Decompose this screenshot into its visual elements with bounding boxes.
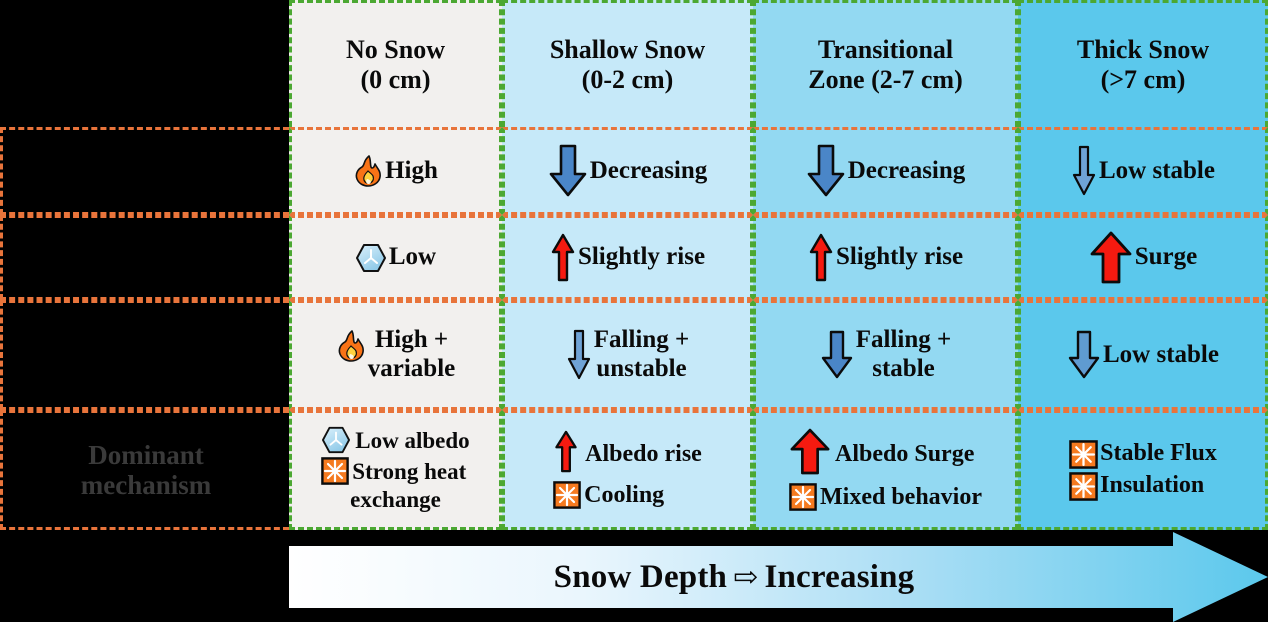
star-icon [1069,472,1098,501]
cell-r3c4: Low stable [1018,300,1268,410]
cell-text-trailing: exchange [350,487,441,512]
cell-r3c3: Falling + stable [753,300,1018,410]
regime-matrix: No Snow (0 cm) Shallow Snow (0-2 cm) Tra… [0,0,1268,530]
fire-icon [336,330,366,362]
row-label-3 [0,300,289,410]
cell-r3c1: High + variable [289,300,502,410]
star-icon [789,483,818,512]
cell-r4c1: Low albedo Strong heat exchange [289,410,502,530]
cell-text: Albedo rise [585,441,702,469]
cell-text: Slightly rise [836,243,963,272]
star-icon [553,481,582,510]
cell-text: Low [389,243,436,272]
snow-depth-gradient-arrow: Snow Depth ⇨ Increasing [289,532,1268,622]
cell-r1c2: Decreasing [502,127,753,215]
cell-r4c3: Albedo Surge Mixed behavior [753,410,1018,530]
arrow-up-icon [550,233,576,283]
cell-text: Strong heat [352,459,466,485]
cell-text: Mixed behavior [820,484,982,512]
arrow-down-icon [1067,330,1101,380]
star-icon [321,457,350,486]
ice-cube-icon [355,243,387,273]
column-header-no-snow: No Snow (0 cm) [289,0,502,127]
cell-text: Low stable [1099,157,1215,186]
arrow-up-icon [808,233,834,283]
row-label-2 [0,215,289,300]
column-header-label: Transitional Zone (2-7 cm) [808,35,963,95]
cell-text: Slightly rise [578,243,705,272]
star-icon [1069,440,1098,469]
column-header-transitional-zone: Transitional Zone (2-7 cm) [753,0,1018,127]
cell-text: Decreasing [590,157,708,186]
arrow-up-icon [1089,231,1133,285]
cell-text: Cooling [584,482,664,510]
cell-text: Low albedo [355,428,469,454]
column-header-label: No Snow (0 cm) [346,35,445,95]
cell-text: Falling + stable [856,326,952,384]
cell-text: Albedo Surge [835,441,974,469]
cell-r2c1: Low [289,215,502,300]
cell-text: Surge [1135,243,1198,272]
matrix-corner-cell [0,0,289,127]
row-label-text: Dominant mechanism [81,440,212,500]
arrow-down-icon [566,329,592,381]
ice-cube-icon [321,426,353,456]
arrow-up-icon [553,430,583,480]
column-header-thick-snow: Thick Snow (>7 cm) [1018,0,1268,127]
cell-r4c4: Stable Flux Insulation [1018,410,1268,530]
column-header-label: Thick Snow (>7 cm) [1077,35,1209,95]
cell-r1c1: High [289,127,502,215]
cell-text: Decreasing [848,157,966,186]
cell-r4c2: Albedo rise Cooling [502,410,753,530]
arrow-down-icon [820,330,854,380]
cell-r2c2: Slightly rise [502,215,753,300]
column-header-label: Shallow Snow (0-2 cm) [550,35,705,95]
cell-r1c3: Decreasing [753,127,1018,215]
cell-text: Insulation [1100,472,1204,500]
cell-text: Falling + unstable [594,326,690,384]
arrow-down-icon [548,144,588,198]
cell-r2c4: Surge [1018,215,1268,300]
cell-text: High + variable [368,326,456,384]
cell-text: High [385,157,438,186]
row-label-dominant-mechanism: Dominant mechanism [0,410,289,530]
cell-r1c4: Low stable [1018,127,1268,215]
arrow-down-icon [806,144,846,198]
fire-icon [353,155,383,187]
arrow-down-icon [1071,145,1097,197]
cell-text: Stable Flux [1100,440,1217,468]
arrow-up-icon [789,428,833,482]
column-header-shallow-snow: Shallow Snow (0-2 cm) [502,0,753,127]
row-label-1 [0,127,289,215]
cell-r2c3: Slightly rise [753,215,1018,300]
cell-r3c2: Falling + unstable [502,300,753,410]
cell-text: Low stable [1103,341,1219,370]
